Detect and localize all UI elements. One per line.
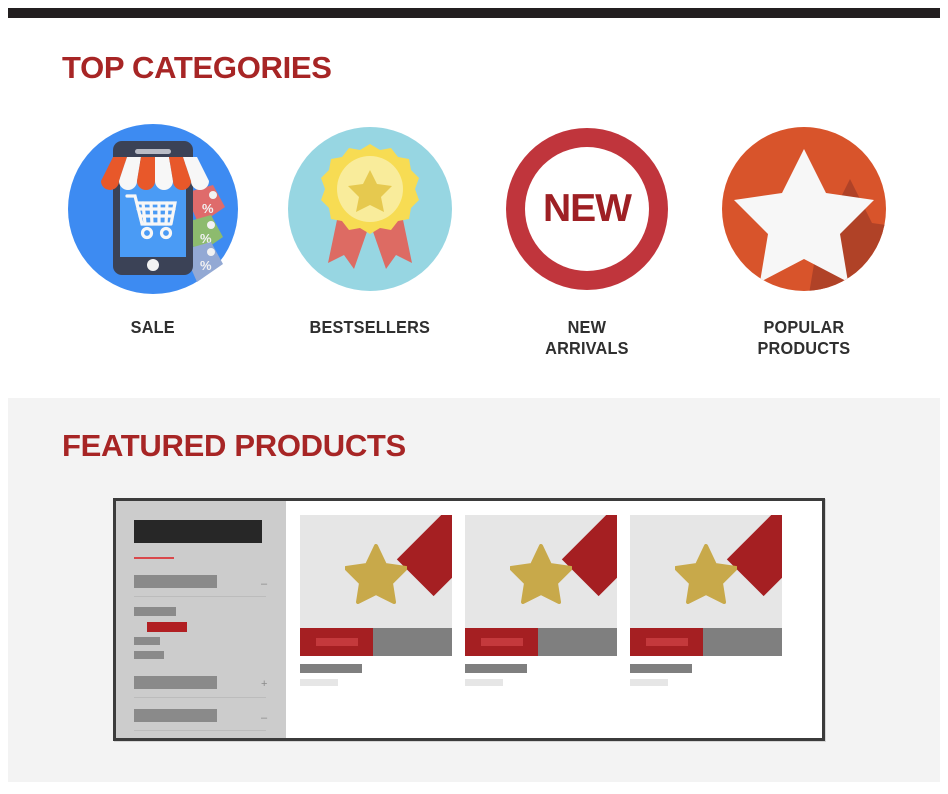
product-meta-placeholder — [465, 679, 503, 686]
product-price-area — [538, 628, 617, 656]
wireframe-product-grid — [286, 501, 822, 738]
online-shop-sale-icon: % % % — [67, 123, 239, 295]
wireframe-underline-rule — [134, 557, 174, 559]
category-item-new-arrivals[interactable]: NEW NEW ARRIVALS — [478, 123, 695, 359]
star-flat-shadow-icon — [718, 123, 890, 295]
category-row: % % % — [44, 123, 914, 359]
category-label-new-arrivals-line1: NEW — [567, 317, 606, 337]
wireframe-filter-heading-3[interactable] — [134, 709, 217, 722]
wireframe-divider-1 — [134, 596, 266, 597]
product-image-placeholder — [300, 515, 452, 628]
category-item-bestsellers[interactable]: BESTSELLERS — [261, 123, 478, 338]
wireframe-filter-option-3[interactable] — [134, 651, 164, 659]
product-buy-button[interactable] — [300, 628, 373, 656]
product-buy-button[interactable] — [630, 628, 703, 656]
category-label-new-arrivals: NEW ARRIVALS — [545, 317, 628, 359]
featured-products-title: FEATURED PRODUCTS — [62, 428, 406, 464]
svg-text:%: % — [200, 258, 212, 273]
wireframe-filter-heading-2[interactable] — [134, 676, 217, 689]
category-item-popular-products[interactable]: POPULAR PRODUCTS — [695, 123, 912, 359]
product-image-placeholder — [630, 515, 782, 628]
star-icon — [675, 544, 737, 604]
product-meta-placeholder — [630, 679, 668, 686]
svg-text:NEW: NEW — [543, 187, 632, 230]
category-label-new-arrivals-line2: ARRIVALS — [545, 338, 628, 358]
product-price-bar — [630, 628, 782, 656]
category-label-popular-products-line1: POPULAR — [763, 317, 844, 337]
wireframe-filter-option-active[interactable] — [147, 622, 187, 632]
featured-products-section: FEATURED PRODUCTS – + – — [8, 398, 940, 782]
wireframe-divider-2 — [134, 697, 266, 698]
product-meta-placeholder — [300, 679, 338, 686]
product-price-area — [373, 628, 452, 656]
product-title-placeholder — [300, 664, 362, 673]
top-categories-title: TOP CATEGORIES — [62, 50, 332, 86]
product-title-placeholder — [630, 664, 692, 673]
wireframe-expand-sign[interactable]: + — [261, 679, 267, 690]
product-card[interactable] — [465, 515, 617, 738]
wireframe-filter-option-1[interactable] — [134, 607, 176, 616]
award-ribbon-icon — [284, 123, 456, 295]
category-label-bestsellers: BESTSELLERS — [309, 317, 430, 338]
wireframe-divider-3 — [134, 730, 266, 731]
product-buy-button[interactable] — [465, 628, 538, 656]
product-price-bar — [465, 628, 617, 656]
product-listing-wireframe: – + – — [113, 498, 825, 741]
new-stamp-badge-icon: NEW — [501, 123, 673, 295]
product-price-bar — [300, 628, 452, 656]
product-price-area — [703, 628, 782, 656]
product-title-placeholder — [465, 664, 527, 673]
category-item-sale[interactable]: % % % — [44, 123, 261, 338]
wireframe-filter-heading-1[interactable] — [134, 575, 217, 588]
wireframe-logo-block — [134, 520, 262, 543]
wireframe-sidebar: – + – — [116, 501, 286, 738]
product-card[interactable] — [300, 515, 452, 738]
wireframe-collapse-sign-2[interactable]: – — [261, 713, 267, 724]
category-label-sale: SALE — [130, 317, 174, 338]
category-label-popular-products: POPULAR PRODUCTS — [757, 317, 850, 359]
category-label-popular-products-line2: PRODUCTS — [757, 338, 850, 358]
product-image-placeholder — [465, 515, 617, 628]
top-categories-section: TOP CATEGORIES % % — [0, 18, 948, 398]
star-icon — [345, 544, 407, 604]
wireframe-filter-option-2[interactable] — [134, 637, 160, 645]
svg-text:%: % — [202, 201, 214, 216]
wireframe-collapse-sign-1[interactable]: – — [261, 579, 267, 590]
product-card[interactable] — [630, 515, 782, 738]
star-icon — [510, 544, 572, 604]
